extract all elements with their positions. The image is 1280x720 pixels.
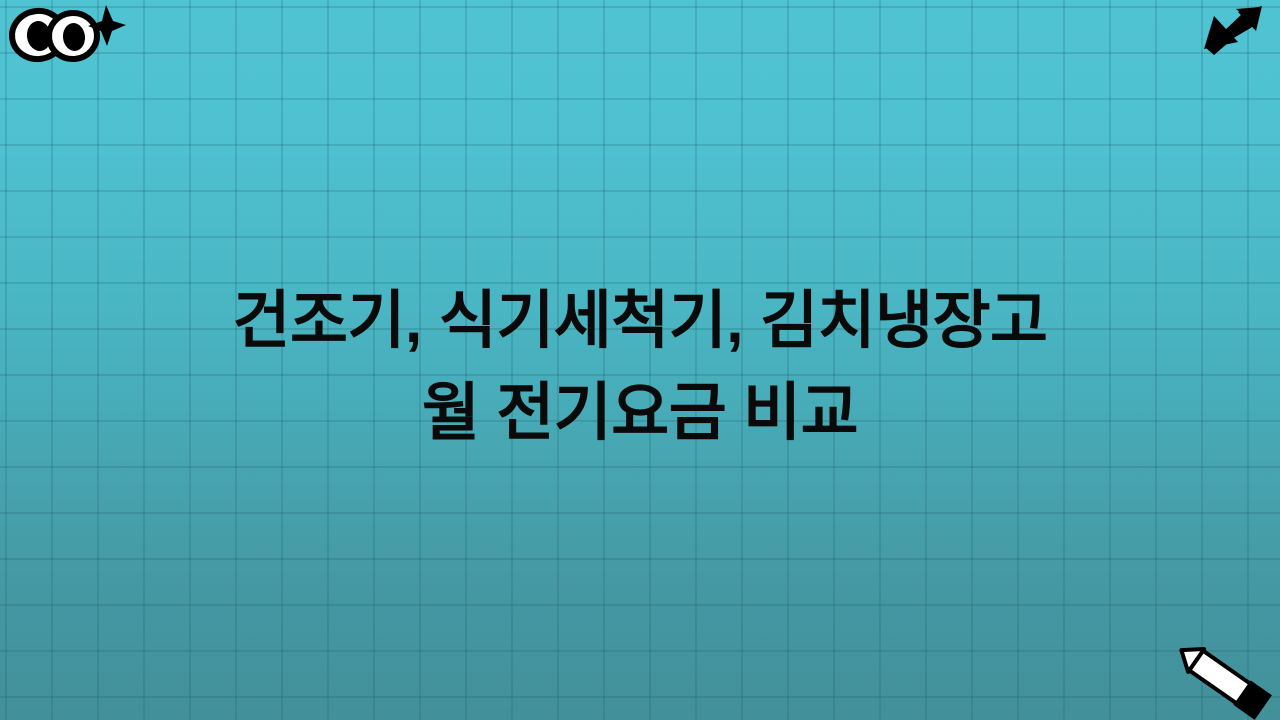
thumbnail-canvas: 건조기, 식기세척기, 김치냉장고 월 전기요금 비교 bbox=[0, 0, 1280, 720]
title-line-1: 건조기, 식기세척기, 김치냉장고 bbox=[233, 275, 1048, 367]
title-line-2: 월 전기요금 비교 bbox=[422, 367, 858, 459]
page-title: 건조기, 식기세척기, 김치냉장고 월 전기요금 비교 bbox=[0, 0, 1280, 720]
